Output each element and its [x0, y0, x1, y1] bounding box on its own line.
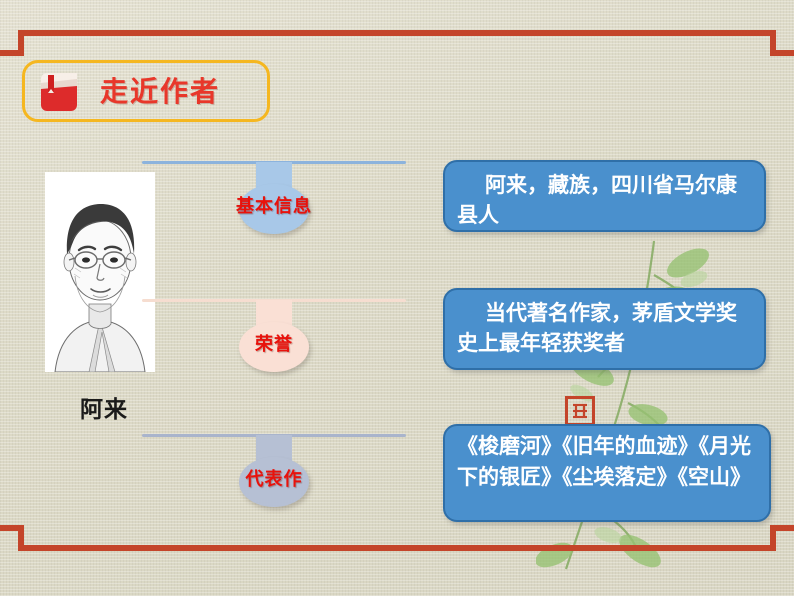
author-portrait: [45, 172, 155, 372]
frame-corner-top-right-h: [770, 50, 794, 56]
branch-tab-label: 荣誉: [221, 330, 327, 356]
frame-corner-bottom-left-h: [0, 525, 24, 531]
branch-content-basic-info: 阿来，藏族，四川省马尔康县人: [443, 160, 766, 232]
frame-bottom-border: [18, 545, 776, 551]
frame-corner-bottom-right-h: [770, 525, 794, 531]
branch-tab-label: 基本信息: [221, 192, 327, 218]
frame-top-border: [18, 30, 776, 36]
red-book-icon: [38, 70, 80, 114]
branch-content-honor: 当代著名作家，茅盾文学奖史上最年轻获奖者: [443, 288, 766, 370]
branch-tab-label: 代表作: [221, 465, 327, 491]
frame-corner-top-left-h: [0, 50, 24, 56]
slide-canvas: 走近作者: [0, 0, 794, 596]
red-square-seal-stamp: [565, 396, 595, 426]
slide-title-text: 走近作者: [100, 70, 260, 114]
author-name-label: 阿来: [80, 390, 128, 424]
branch-content-works: 《梭磨河》《旧年的血迹》《月光下的银匠》《尘埃落定》《空山》: [443, 424, 771, 522]
